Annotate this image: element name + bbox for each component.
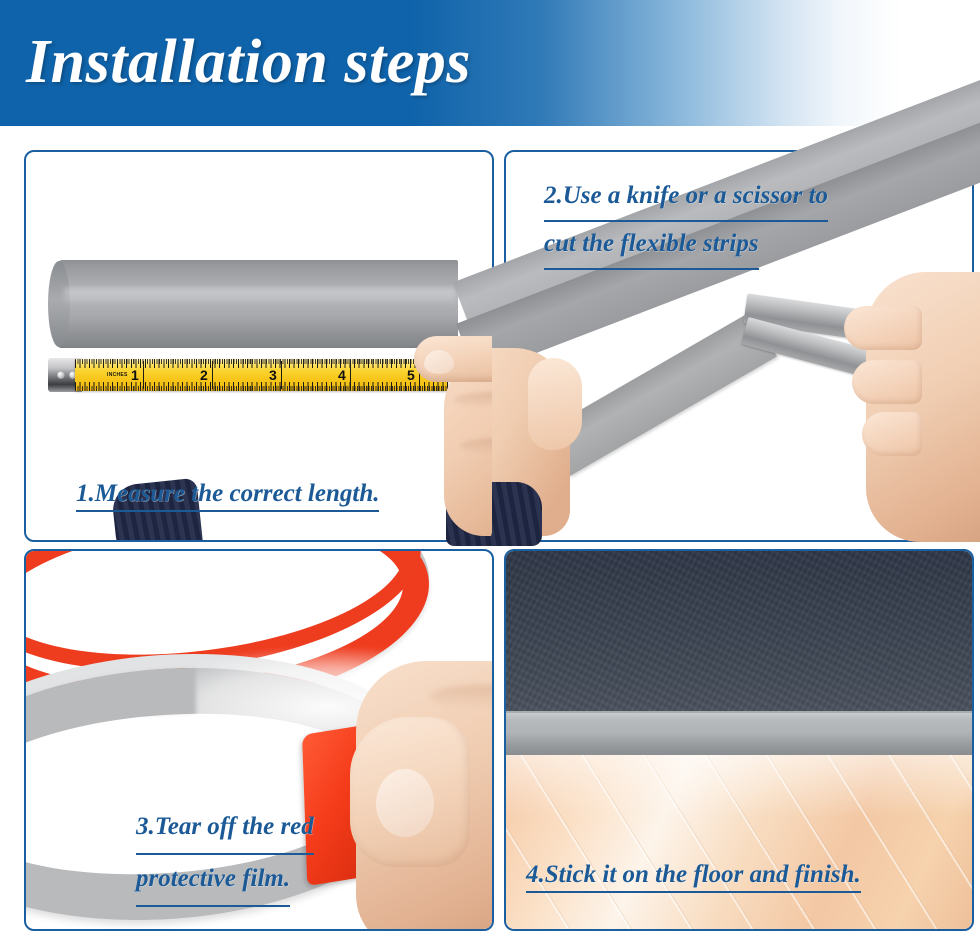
step-panel-4: 4.Stick it on the floor and finish. <box>504 549 974 931</box>
step-1-illustration: INCHES 1 2 3 4 5 <box>26 152 492 540</box>
tape-inch-mark-3 <box>281 361 282 389</box>
floor-reflection <box>506 755 972 817</box>
tape-number-3: 3 <box>269 368 277 382</box>
gray-strip-graphic <box>58 260 458 348</box>
hand-holding-scissors <box>866 272 980 542</box>
hand-peeling-film <box>356 661 492 929</box>
page-title: Installation steps <box>26 22 471 102</box>
infographic-page: Installation steps INCHES <box>0 0 980 943</box>
wood-floor-surface <box>506 755 972 929</box>
tape-unit-label: INCHES <box>107 372 128 378</box>
step-3-illustration: 3.Tear off the red protective film. <box>26 551 492 929</box>
scissor-hand-finger-3 <box>862 412 922 456</box>
hook-rivet-left <box>57 371 65 379</box>
step-1-caption: 1.Measure the correct length. <box>76 480 379 512</box>
step-2-caption-line-2: cut the flexible strips <box>544 222 759 270</box>
step-2-caption-line-1: 2.Use a knife or a scissor to <box>544 174 828 222</box>
step-4-caption-line-1: 4.Stick it on the floor and finish. <box>526 861 861 893</box>
tape-number-2: 2 <box>200 368 208 382</box>
step-panel-1: INCHES 1 2 3 4 5 <box>24 150 494 542</box>
step-3-caption-line-1: 3.Tear off the red <box>136 803 314 855</box>
step-panel-3: 3.Tear off the red protective film. <box>24 549 494 931</box>
peel-hand-thumbnail <box>376 769 434 837</box>
step-4-illustration: 4.Stick it on the floor and finish. <box>506 551 972 929</box>
step-panel-2: 2.Use a knife or a scissor to cut the fl… <box>504 150 974 542</box>
step-1-caption-line-1: 1.Measure the correct length. <box>76 480 379 512</box>
tape-inch-mark-1 <box>143 361 144 389</box>
fingernail <box>424 350 454 374</box>
tape-inch-mark-2 <box>212 361 213 389</box>
step-4-caption: 4.Stick it on the floor and finish. <box>526 861 861 893</box>
dark-wall-surface <box>506 551 972 711</box>
tape-major-ticks-bottom <box>75 382 448 391</box>
scissor-hand-finger-1 <box>844 306 922 350</box>
hand-holding-tape <box>414 330 492 540</box>
step-2-illustration: 2.Use a knife or a scissor to cut the fl… <box>506 152 972 540</box>
tape-measure-graphic: INCHES 1 2 3 4 5 <box>48 356 448 394</box>
peel-hand-thumb <box>350 717 470 867</box>
step-3-caption-line-2: protective film. <box>136 855 290 907</box>
tape-blade: INCHES 1 2 3 4 5 <box>75 359 448 391</box>
installed-trim-strip <box>506 711 972 755</box>
tape-number-1: 1 <box>131 368 139 382</box>
peel-hand-knuckle <box>430 685 492 709</box>
strip-highlight <box>64 288 456 304</box>
tape-number-4: 4 <box>338 368 346 382</box>
tape-inch-mark-4 <box>350 361 351 389</box>
scissor-hand-finger-2 <box>852 360 922 404</box>
step-3-caption: 3.Tear off the red protective film. <box>136 803 314 907</box>
hand-index-finger <box>414 336 492 382</box>
header-banner: Installation steps <box>0 0 980 126</box>
step-2-caption: 2.Use a knife or a scissor to cut the fl… <box>544 174 828 270</box>
strip-hand-thumb <box>528 358 582 450</box>
